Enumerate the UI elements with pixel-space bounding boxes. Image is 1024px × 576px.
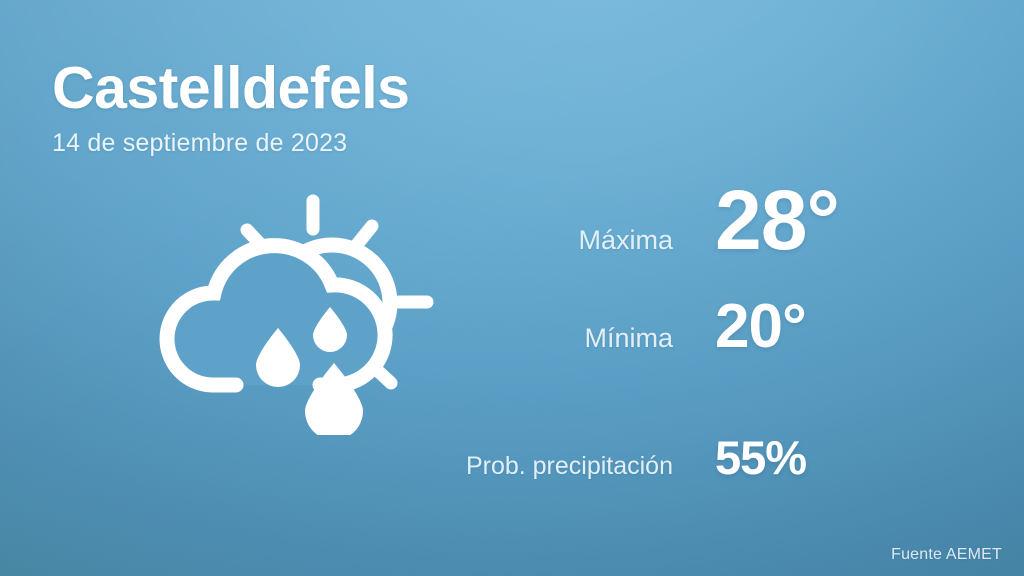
city-name: Castelldefels bbox=[52, 58, 410, 120]
metric-row-minima: Mínima 20° bbox=[410, 296, 970, 434]
minima-value: 20° bbox=[715, 296, 806, 358]
metric-row-precipitacion: Prob. precipitación 55% bbox=[410, 434, 970, 494]
precipitacion-value: 55% bbox=[715, 434, 806, 481]
precipitacion-label: Prob. precipitación bbox=[410, 452, 715, 481]
weather-card: Castelldefels 14 de septiembre de 2023 bbox=[0, 0, 1024, 576]
maxima-value: 28° bbox=[715, 178, 839, 262]
metric-row-maxima: Máxima 28° bbox=[410, 178, 970, 296]
data-source-credit: Fuente AEMET bbox=[891, 546, 1002, 564]
minima-label: Mínima bbox=[410, 323, 715, 354]
forecast-date: 14 de septiembre de 2023 bbox=[52, 129, 410, 158]
sun-behind-rain-cloud-icon bbox=[150, 185, 440, 435]
maxima-label: Máxima bbox=[410, 225, 715, 256]
card-header: Castelldefels 14 de septiembre de 2023 bbox=[52, 58, 410, 158]
metrics-list: Máxima 28° Mínima 20° Prob. precipitació… bbox=[410, 178, 970, 494]
sun-ray-lower-right bbox=[378, 371, 391, 383]
weather-icon bbox=[150, 185, 440, 435]
